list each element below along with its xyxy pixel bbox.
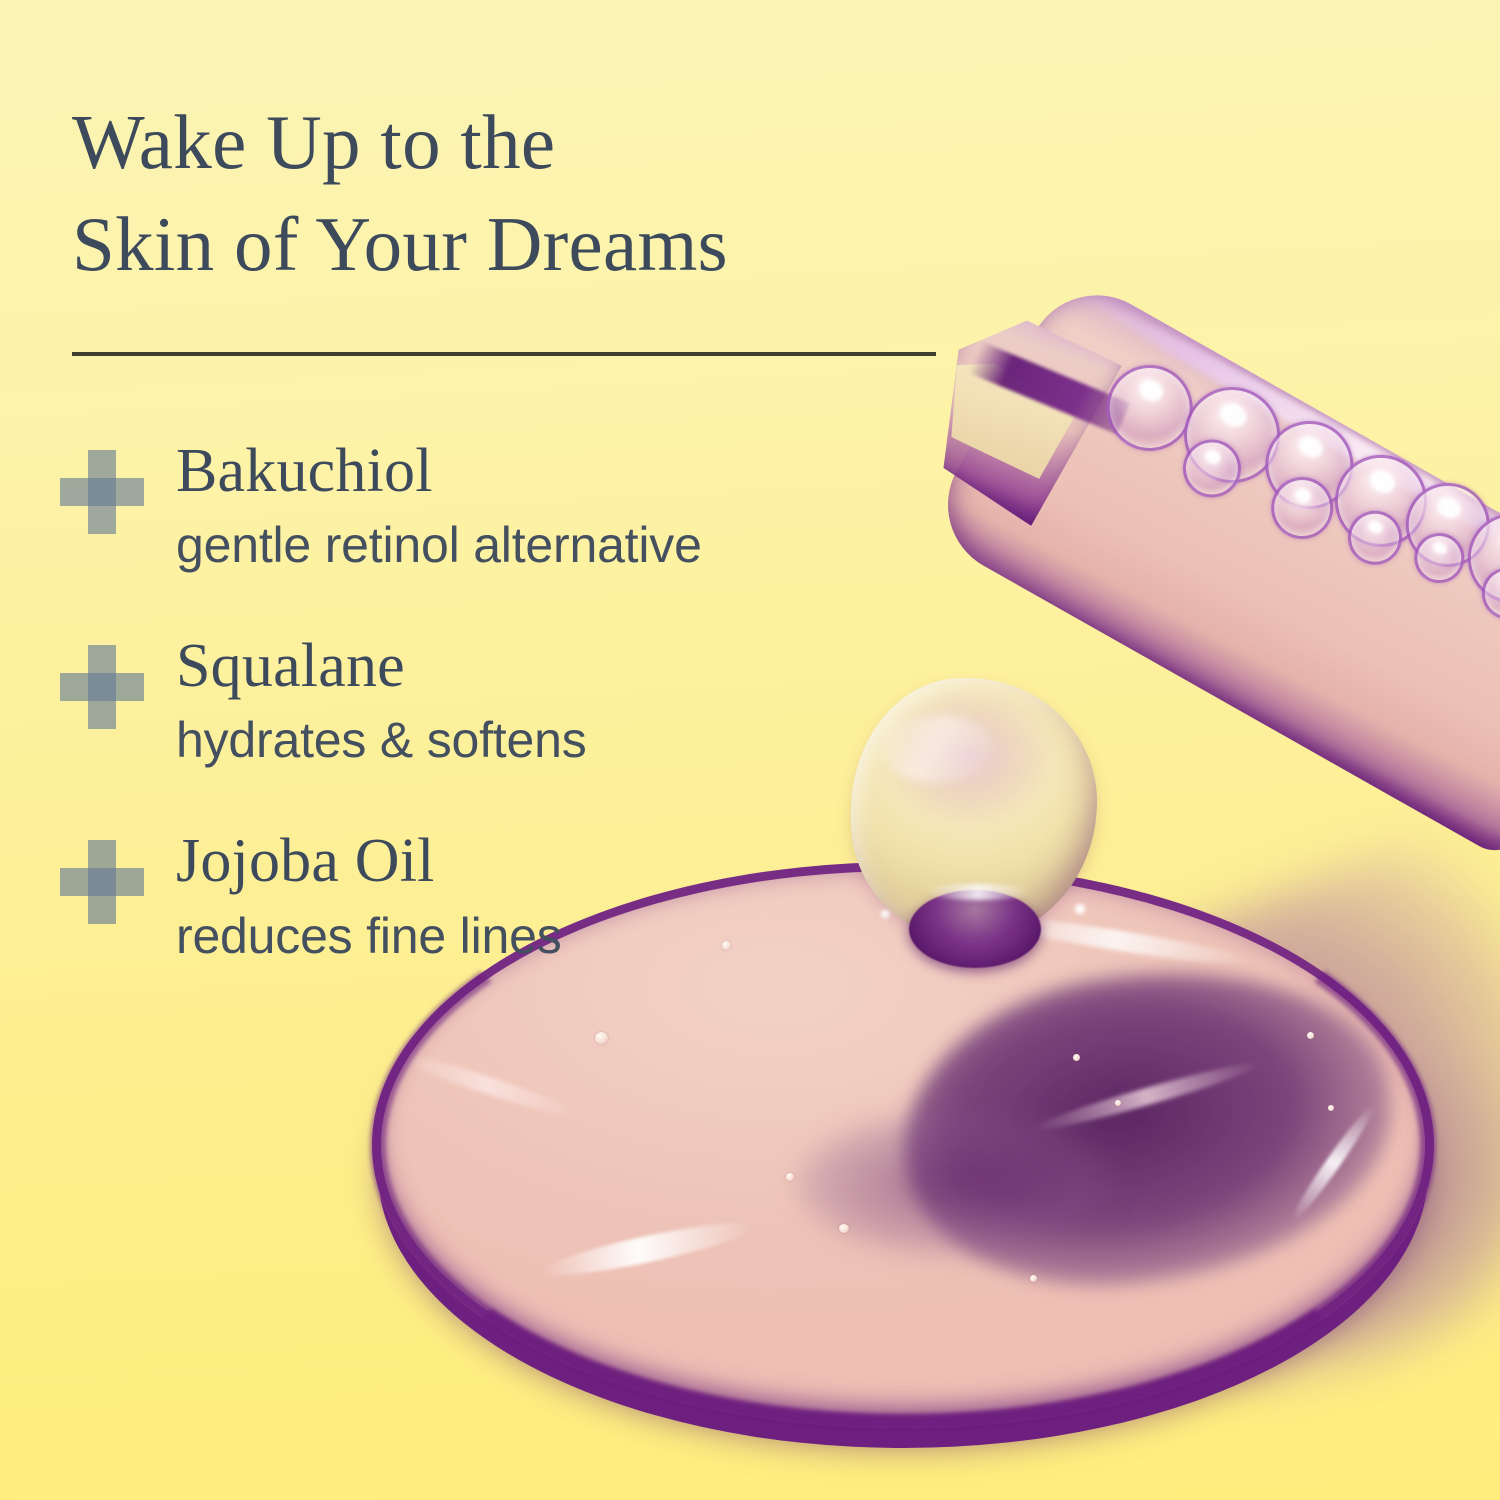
feature-item-bakuchiol: Bakuchiol gentle retinol alternative: [60, 440, 1060, 575]
feature-title: Bakuchiol: [60, 440, 1060, 503]
feature-subtitle: gentle retinol alternative: [60, 515, 1060, 575]
plus-icon: [60, 450, 144, 534]
text-overlay: Wake Up to the Skin of Your Dreams Bakuc…: [0, 0, 1500, 1500]
feature-subtitle: reduces fine lines: [60, 906, 1060, 966]
divider: [72, 352, 936, 356]
product-infographic: Wake Up to the Skin of Your Dreams Bakuc…: [0, 0, 1500, 1500]
feature-list: Bakuchiol gentle retinol alternative Squ…: [60, 440, 1060, 966]
plus-icon: [60, 645, 144, 729]
headline-line-2: Skin of Your Dreams: [72, 194, 972, 296]
feature-title: Squalane: [60, 635, 1060, 698]
headline-line-1: Wake Up to the: [72, 92, 972, 194]
feature-item-squalane: Squalane hydrates & softens: [60, 635, 1060, 770]
feature-title: Jojoba Oil: [60, 830, 1060, 893]
plus-icon: [60, 840, 144, 924]
page-title: Wake Up to the Skin of Your Dreams: [72, 92, 972, 295]
feature-subtitle: hydrates & softens: [60, 710, 1060, 770]
feature-item-jojoba-oil: Jojoba Oil reduces fine lines: [60, 830, 1060, 965]
